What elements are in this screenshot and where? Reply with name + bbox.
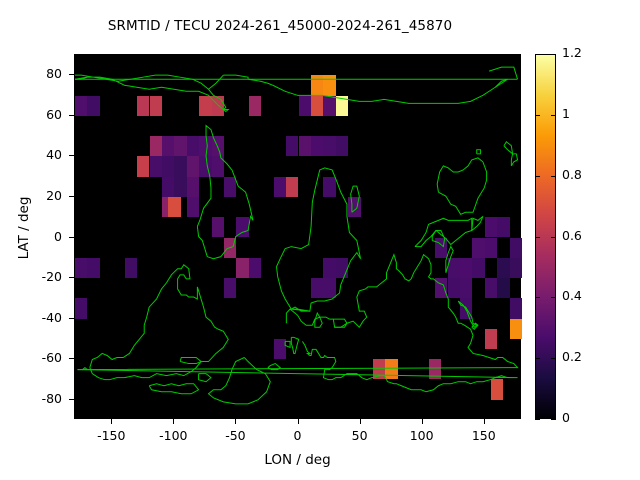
heatmap-cell bbox=[336, 136, 348, 156]
heatmap-cell bbox=[497, 217, 509, 237]
heatmap-cell bbox=[137, 156, 149, 176]
heatmap-cell bbox=[448, 278, 460, 298]
y-tick-label: -60 bbox=[22, 350, 62, 365]
x-tick-label: -100 bbox=[143, 428, 203, 443]
heatmap-cell bbox=[485, 217, 497, 237]
heatmap-cell bbox=[323, 136, 335, 156]
heatmap-cell bbox=[249, 258, 261, 278]
colorbar-tick-label: 0.2 bbox=[562, 349, 602, 364]
colorbar-tick-mark bbox=[535, 237, 540, 238]
y-tick-mark bbox=[69, 74, 74, 75]
y-tick-label: -80 bbox=[22, 391, 62, 406]
x-tick-mark bbox=[360, 419, 361, 424]
heatmap-cell bbox=[299, 96, 311, 116]
heatmap-cell bbox=[435, 238, 447, 258]
colorbar-tick-label: 0.6 bbox=[562, 228, 602, 243]
y-tick-mark bbox=[69, 318, 74, 319]
colorbar-tick-label: 1.2 bbox=[562, 45, 602, 60]
heatmap-cell bbox=[199, 96, 211, 116]
y-tick-mark bbox=[69, 399, 74, 400]
heatmap-cell bbox=[323, 177, 335, 197]
heatmap-cell bbox=[323, 96, 335, 116]
x-tick-label: -50 bbox=[205, 428, 265, 443]
heatmap-cell bbox=[323, 278, 335, 298]
heatmap-cell bbox=[187, 197, 199, 217]
heatmap-cell bbox=[510, 298, 522, 318]
heatmap-cell bbox=[162, 177, 174, 197]
heatmap-cell bbox=[174, 156, 186, 176]
heatmap-cell bbox=[311, 278, 323, 298]
heatmap-cell bbox=[75, 298, 87, 318]
x-axis-title: LON / deg bbox=[74, 452, 521, 468]
heatmap-cell bbox=[236, 217, 248, 237]
heatmap-cell bbox=[212, 96, 224, 116]
y-tick-mark bbox=[69, 358, 74, 359]
x-tick-label: -150 bbox=[81, 428, 141, 443]
heatmap-cell bbox=[187, 136, 199, 156]
heatmap-cell bbox=[460, 258, 472, 278]
x-tick-label: 100 bbox=[392, 428, 452, 443]
heatmap-cell bbox=[485, 278, 497, 298]
heatmap-cell bbox=[448, 258, 460, 278]
heatmap-cell bbox=[373, 359, 385, 379]
heatmap-cell bbox=[150, 136, 162, 156]
heatmap-cell bbox=[174, 177, 186, 197]
colorbar-tick-mark bbox=[535, 358, 540, 359]
y-tick-mark bbox=[69, 155, 74, 156]
heatmap-cell bbox=[348, 197, 360, 217]
x-tick-mark bbox=[173, 419, 174, 424]
heatmap-cell bbox=[224, 278, 236, 298]
heatmap-cell bbox=[485, 329, 497, 349]
colorbar-tick-mark bbox=[535, 297, 540, 298]
heatmap-cell bbox=[299, 136, 311, 156]
y-tick-label: -40 bbox=[22, 310, 62, 325]
heatmap-cell bbox=[212, 217, 224, 237]
heatmap-cell bbox=[150, 156, 162, 176]
heatmap-cell bbox=[162, 156, 174, 176]
heatmap-cell bbox=[274, 339, 286, 359]
colorbar-tick-label: 0.4 bbox=[562, 288, 602, 303]
heatmap-cell bbox=[236, 258, 248, 278]
colorbar-tick-mark bbox=[535, 419, 540, 420]
x-tick-mark bbox=[484, 419, 485, 424]
colorbar-tick-mark bbox=[535, 115, 540, 116]
y-tick-mark bbox=[69, 196, 74, 197]
heatmap-cell bbox=[323, 75, 335, 95]
heatmap-cell bbox=[311, 96, 323, 116]
heatmap-cell bbox=[174, 136, 186, 156]
heatmap-cell bbox=[224, 177, 236, 197]
colorbar-tick-mark bbox=[551, 176, 556, 177]
heatmap-cell bbox=[168, 197, 180, 217]
heatmap-cell bbox=[187, 156, 199, 176]
heatmap-cell bbox=[286, 177, 298, 197]
x-tick-mark bbox=[298, 419, 299, 424]
heatmap-cell bbox=[460, 278, 472, 298]
heatmap-cell bbox=[162, 136, 174, 156]
y-tick-label: 60 bbox=[22, 107, 62, 122]
heatmap-cell-layer bbox=[75, 55, 520, 418]
map-plot-area bbox=[74, 54, 521, 419]
heatmap-cell bbox=[75, 96, 87, 116]
colorbar-tick-mark bbox=[535, 54, 540, 55]
heatmap-cell bbox=[510, 238, 522, 258]
heatmap-cell bbox=[224, 238, 236, 258]
heatmap-cell bbox=[125, 258, 137, 278]
heatmap-cell bbox=[485, 238, 497, 258]
heatmap-cell bbox=[497, 278, 509, 298]
heatmap-cell bbox=[472, 238, 484, 258]
heatmap-cell bbox=[87, 258, 99, 278]
colorbar-tick-mark bbox=[551, 419, 556, 420]
heatmap-cell bbox=[311, 75, 323, 95]
heatmap-cell bbox=[385, 359, 397, 379]
x-tick-label: 0 bbox=[268, 428, 328, 443]
heatmap-cell bbox=[199, 136, 211, 156]
colorbar-tick-label: 0.8 bbox=[562, 167, 602, 182]
colorbar-tick-mark bbox=[551, 115, 556, 116]
colorbar-tick-mark bbox=[551, 297, 556, 298]
y-tick-mark bbox=[69, 115, 74, 116]
heatmap-cell bbox=[323, 258, 335, 278]
colorbar-tick-mark bbox=[551, 358, 556, 359]
y-axis-title: LAT / deg bbox=[16, 158, 32, 298]
plot-root: SRMTID / TECU 2024-261_45000-2024-261_45… bbox=[0, 0, 640, 480]
y-tick-mark bbox=[69, 237, 74, 238]
heatmap-cell bbox=[497, 258, 509, 278]
colorbar-tick-mark bbox=[551, 237, 556, 238]
colorbar-tick-mark bbox=[551, 54, 556, 55]
heatmap-cell bbox=[510, 258, 522, 278]
heatmap-cell bbox=[274, 177, 286, 197]
heatmap-cell bbox=[472, 258, 484, 278]
heatmap-cell bbox=[429, 359, 441, 379]
heatmap-cell bbox=[187, 177, 199, 197]
colorbar-tick-label: 1 bbox=[562, 106, 602, 121]
heatmap-cell bbox=[150, 96, 162, 116]
x-tick-label: 50 bbox=[330, 428, 390, 443]
x-tick-label: 150 bbox=[454, 428, 514, 443]
y-tick-label: 80 bbox=[22, 66, 62, 81]
colorbar-tick-label: 0 bbox=[562, 410, 602, 425]
heatmap-cell bbox=[212, 156, 224, 176]
heatmap-cell bbox=[75, 258, 87, 278]
y-tick-mark bbox=[69, 277, 74, 278]
heatmap-cell bbox=[460, 298, 472, 318]
heatmap-cell bbox=[336, 258, 348, 278]
heatmap-cell bbox=[311, 136, 323, 156]
x-tick-mark bbox=[111, 419, 112, 424]
page-title: SRMTID / TECU 2024-261_45000-2024-261_45… bbox=[0, 18, 560, 34]
heatmap-cell bbox=[87, 96, 99, 116]
heatmap-cell bbox=[435, 278, 447, 298]
heatmap-cell bbox=[286, 136, 298, 156]
heatmap-cell bbox=[212, 136, 224, 156]
heatmap-cell bbox=[491, 379, 503, 399]
x-tick-mark bbox=[235, 419, 236, 424]
heatmap-cell bbox=[137, 96, 149, 116]
colorbar-tick-mark bbox=[535, 176, 540, 177]
heatmap-cell bbox=[199, 156, 211, 176]
heatmap-cell bbox=[249, 96, 261, 116]
heatmap-cell bbox=[336, 96, 348, 116]
heatmap-cell bbox=[510, 319, 522, 339]
x-tick-mark bbox=[422, 419, 423, 424]
